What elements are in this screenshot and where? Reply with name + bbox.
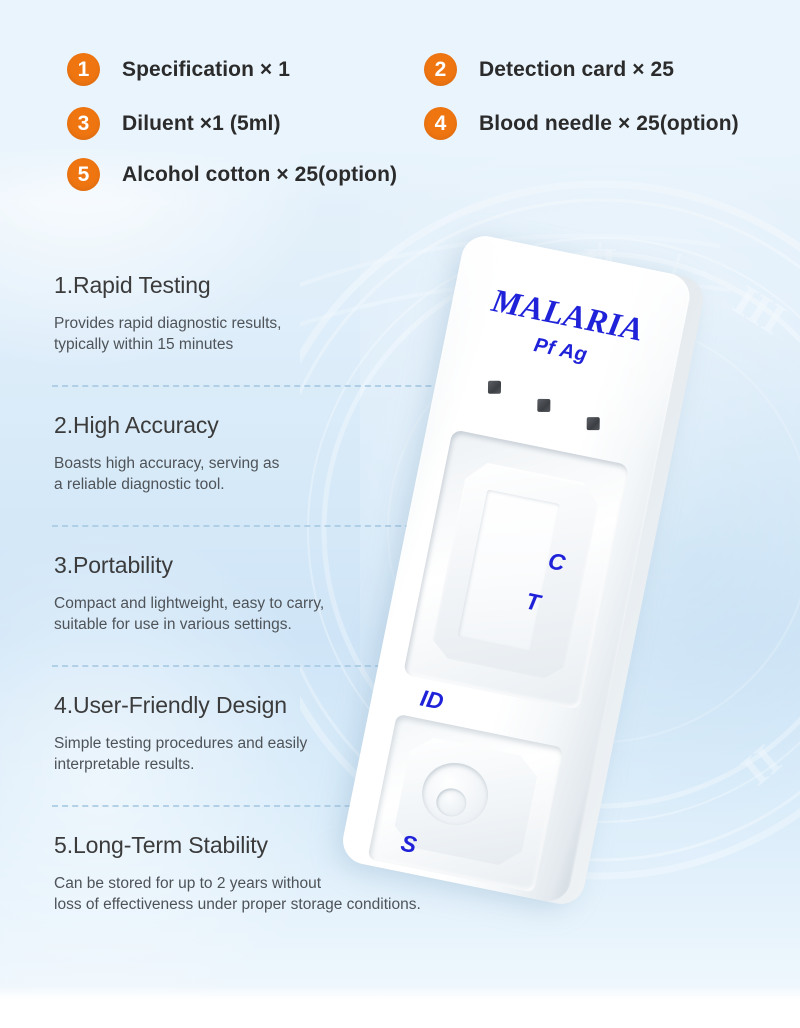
background-bottom-band — [0, 986, 800, 1028]
feature-item-long-term-stability: 5.Long-Term Stability Can be stored for … — [52, 832, 502, 915]
feature-item-user-friendly-design: 4.User-Friendly Design Simple testing pr… — [52, 692, 502, 775]
kit-item-4-label: Blood needle × 25(option) — [479, 112, 739, 136]
kit-item-2: 2 Detection card × 25 — [424, 53, 674, 86]
feature-divider-3 — [52, 665, 492, 667]
feature-item-rapid-testing: 1.Rapid Testing Provides rapid diagnosti… — [52, 272, 502, 355]
number-badge-5-icon: 5 — [67, 158, 100, 191]
kit-item-5-label: Alcohol cotton × 25(option) — [122, 163, 397, 187]
product-infographic: II III IIII X III II 1 — [0, 0, 800, 1028]
feature-divider-2 — [52, 525, 492, 527]
kit-item-3: 3 Diluent ×1 (5ml) — [67, 107, 281, 140]
kit-item-5: 5 Alcohol cotton × 25(option) — [67, 158, 397, 191]
number-badge-4-icon: 4 — [424, 107, 457, 140]
number-badge-1-icon: 1 — [67, 53, 100, 86]
kit-item-1: 1 Specification × 1 — [67, 53, 290, 86]
feature-divider-4 — [52, 805, 492, 807]
kit-item-2-label: Detection card × 25 — [479, 58, 674, 82]
kit-item-1-label: Specification × 1 — [122, 58, 290, 82]
feature-3-description: Compact and lightweight, easy to carry, … — [54, 593, 502, 635]
feature-1-title: 1.Rapid Testing — [54, 272, 502, 299]
number-badge-2-icon: 2 — [424, 53, 457, 86]
feature-5-description: Can be stored for up to 2 years without … — [54, 873, 502, 915]
feature-2-description: Boasts high accuracy, serving as a relia… — [54, 453, 502, 495]
kit-item-4: 4 Blood needle × 25(option) — [424, 107, 739, 140]
number-badge-3-icon: 3 — [67, 107, 100, 140]
feature-2-title: 2.High Accuracy — [54, 412, 502, 439]
feature-1-description: Provides rapid diagnostic results, typic… — [54, 313, 502, 355]
feature-5-title: 5.Long-Term Stability — [54, 832, 502, 859]
feature-4-title: 4.User-Friendly Design — [54, 692, 502, 719]
kit-item-3-label: Diluent ×1 (5ml) — [122, 112, 281, 136]
kit-contents-list: 1 Specification × 1 2 Detection card × 2… — [0, 0, 800, 200]
feature-item-portability: 3.Portability Compact and lightweight, e… — [52, 552, 502, 635]
feature-divider-1 — [52, 385, 492, 387]
feature-item-high-accuracy: 2.High Accuracy Boasts high accuracy, se… — [52, 412, 502, 495]
feature-3-title: 3.Portability — [54, 552, 502, 579]
feature-4-description: Simple testing procedures and easily int… — [54, 733, 502, 775]
